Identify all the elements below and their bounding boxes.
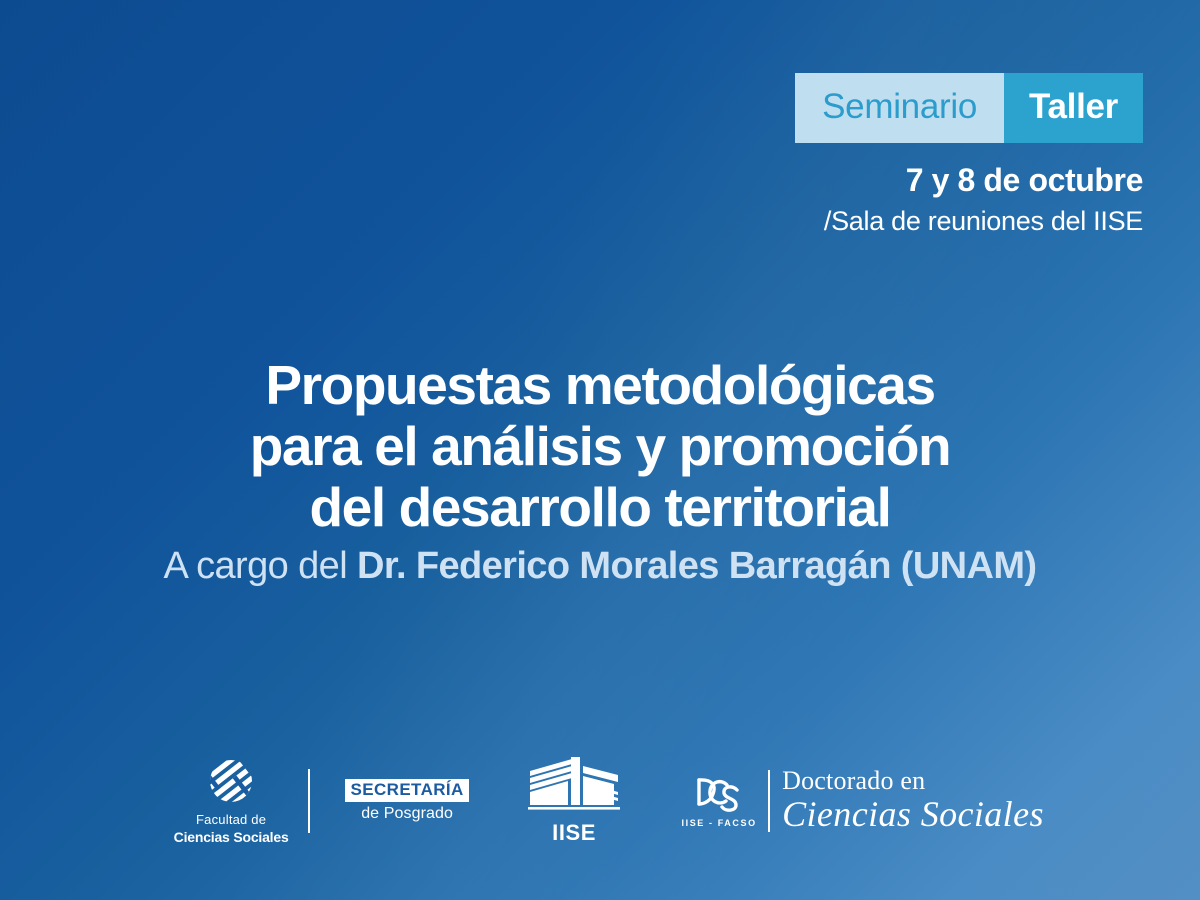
dcs-sublabel: IISE - FACSO (682, 818, 757, 828)
event-date: 7 y 8 de octubre (824, 163, 1143, 198)
dcs-line-1: Doctorado en (782, 768, 1044, 794)
dcs-text-block: Doctorado en Ciencias Sociales (782, 768, 1044, 834)
fcs-label-line-1: Facultad de (196, 812, 266, 827)
dcs-monogram-block: IISE - FACSO (682, 774, 756, 828)
fcs-emblem-icon (208, 758, 254, 804)
dcs-line-2: Ciencias Sociales (782, 796, 1044, 834)
event-date-block: 7 y 8 de octubre /Sala de reuniones del … (824, 163, 1143, 237)
secretaria-label: SECRETARÍA (345, 779, 468, 801)
iise-building-icon (528, 757, 620, 815)
dcs-divider (768, 770, 770, 832)
event-location: /Sala de reuniones del IISE (824, 205, 1143, 237)
title-line-3: del desarrollo territorial (80, 477, 1120, 538)
badge-seminario: Seminario (795, 73, 1004, 143)
title-line-1: Propuestas metodológicas (80, 355, 1120, 416)
logo-facultad-ciencias-sociales: Facultad de Ciencias Sociales (156, 758, 306, 845)
event-type-badges: Seminario Taller (795, 73, 1143, 143)
speaker-prefix: A cargo del (164, 545, 358, 587)
fcs-label-line-2: Ciencias Sociales (174, 829, 289, 845)
title-line-2: para el análisis y promoción (80, 416, 1120, 477)
logo-iise: IISE (504, 757, 644, 846)
logo-doctorado-ciencias-sociales: IISE - FACSO Doctorado en Ciencias Socia… (682, 768, 1044, 834)
poster-canvas: Seminario Taller 7 y 8 de octubre /Sala … (0, 0, 1200, 900)
logo-divider (308, 769, 310, 833)
sponsor-logo-strip: Facultad de Ciencias Sociales SECRETARÍA… (0, 746, 1200, 856)
speaker-credit: A cargo del Dr. Federico Morales Barragá… (0, 541, 1200, 591)
speaker-name: Dr. Federico Morales Barragán (UNAM) (357, 545, 1036, 587)
posgrado-label: de Posgrado (361, 805, 453, 823)
dcs-monogram-icon (691, 774, 747, 816)
page-title: Propuestas metodológicas para el análisi… (0, 355, 1200, 538)
iise-label: IISE (552, 820, 596, 846)
logo-secretaria-posgrado: SECRETARÍA de Posgrado (332, 779, 482, 822)
badge-taller: Taller (1004, 73, 1143, 143)
